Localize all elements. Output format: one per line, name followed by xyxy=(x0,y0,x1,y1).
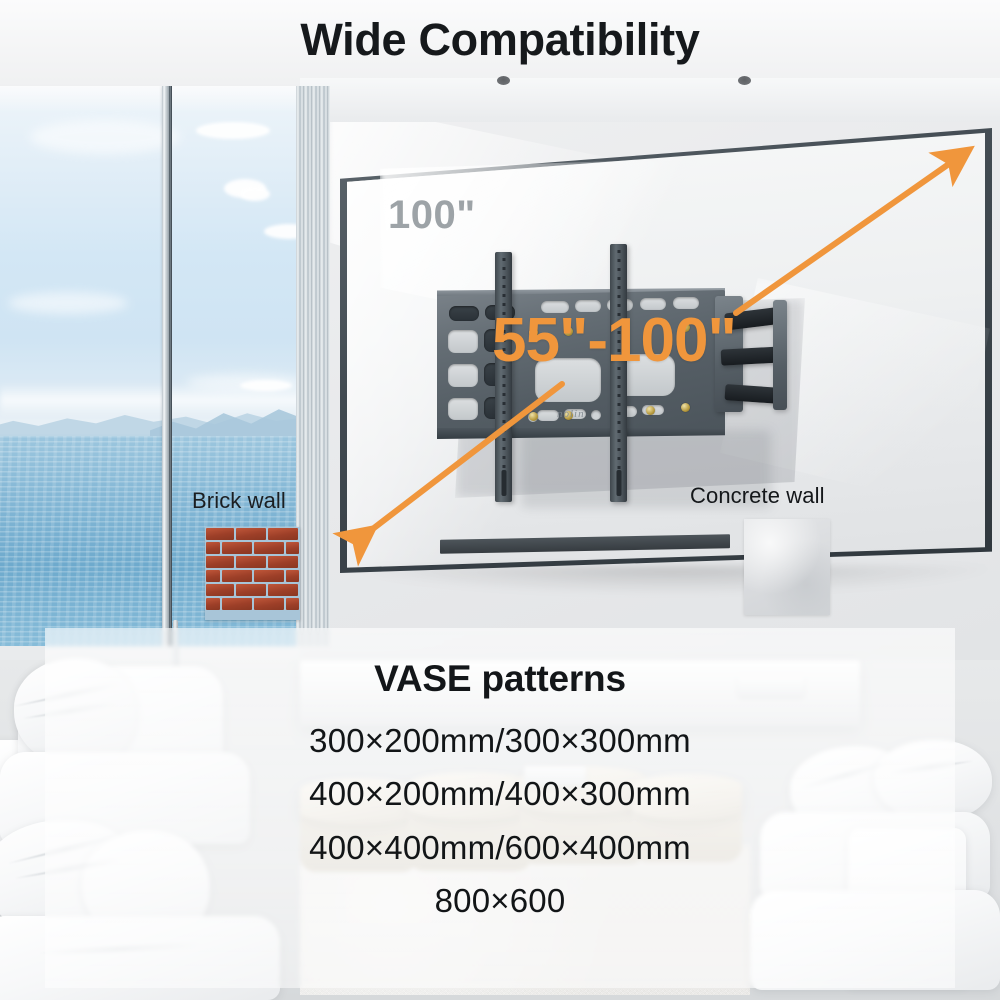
brick xyxy=(206,584,234,596)
cloud xyxy=(30,120,180,154)
brick xyxy=(236,556,266,568)
brick-row xyxy=(205,570,300,584)
brick xyxy=(268,584,298,596)
window-frame-stack xyxy=(296,86,330,646)
vase-patterns-list: 300×200mm/300×300mm 400×200mm/400×300mm … xyxy=(0,714,1000,928)
brick xyxy=(222,570,252,582)
brick xyxy=(236,584,266,596)
brick xyxy=(206,542,220,554)
brick xyxy=(206,598,220,610)
brick xyxy=(206,556,234,568)
ceiling-downlight xyxy=(497,76,510,85)
brick-wall-label: Brick wall xyxy=(192,488,286,514)
brick xyxy=(222,542,252,554)
ceiling-soffit xyxy=(300,78,1000,122)
brick-row xyxy=(205,556,300,570)
brick xyxy=(286,570,299,582)
cloud xyxy=(240,187,270,201)
brick xyxy=(286,598,299,610)
brick xyxy=(268,528,298,540)
cloud xyxy=(8,292,128,314)
brick-row xyxy=(205,584,300,598)
concrete-wall-label: Concrete wall xyxy=(690,483,825,509)
brick-row xyxy=(205,528,300,542)
brick-row xyxy=(205,598,300,612)
cloud xyxy=(196,122,270,139)
concrete-swatch xyxy=(744,519,830,615)
page-title: Wide Compatibility xyxy=(0,14,1000,66)
vase-pattern-line: 800×600 xyxy=(0,874,1000,927)
brick xyxy=(254,542,284,554)
brick xyxy=(254,598,284,610)
brick xyxy=(222,598,252,610)
vase-pattern-line: 300×200mm/300×300mm xyxy=(0,714,1000,767)
brick xyxy=(206,528,234,540)
tv-size-range-label: 55"-100" xyxy=(492,310,736,372)
brick xyxy=(206,570,220,582)
ceiling-downlight xyxy=(738,76,751,85)
brick xyxy=(254,570,284,582)
vase-patterns-title: VASE patterns xyxy=(0,658,1000,700)
window-mullion xyxy=(162,86,169,646)
brick-row xyxy=(205,542,300,556)
brick xyxy=(236,528,266,540)
product-marketing-image: 100" xyxy=(0,0,1000,1000)
brick-swatch xyxy=(205,527,300,620)
vase-pattern-line: 400×400mm/600×400mm xyxy=(0,821,1000,874)
brick xyxy=(268,556,298,568)
vase-pattern-line: 400×200mm/400×300mm xyxy=(0,767,1000,820)
brick xyxy=(286,542,299,554)
